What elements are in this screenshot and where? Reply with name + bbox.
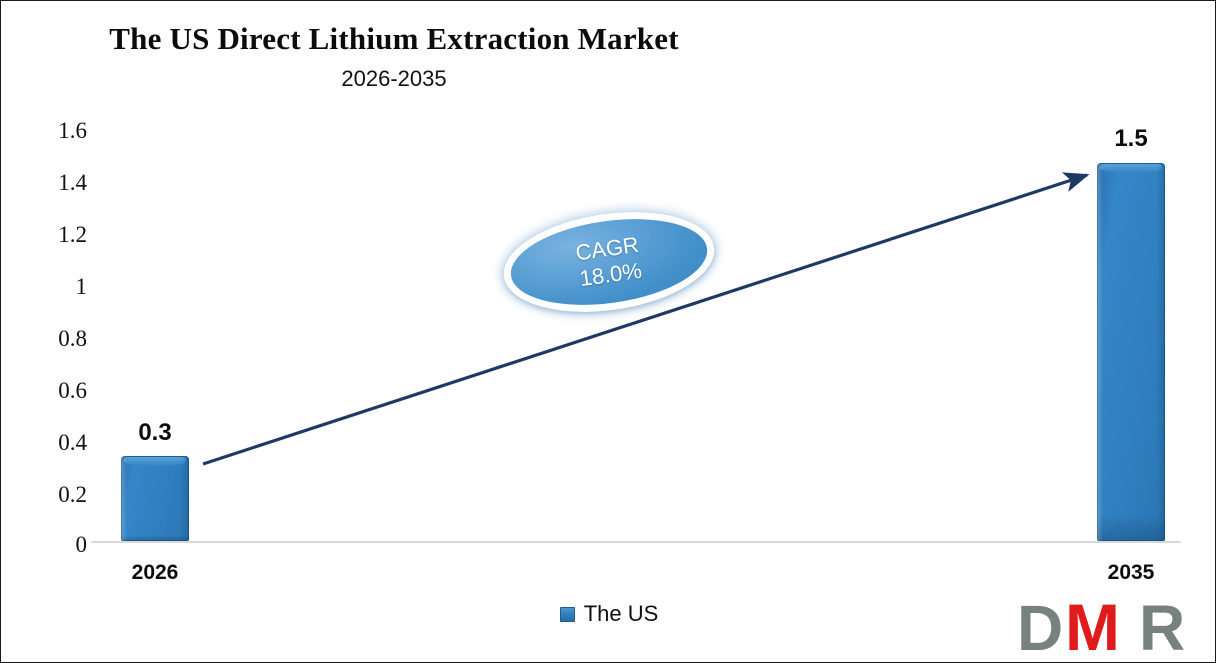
dmr-logo-letter-d: D xyxy=(1017,592,1063,660)
x-axis-line xyxy=(91,541,1181,543)
x-axis-label-2035: 2035 xyxy=(1081,561,1181,585)
bar-2026[interactable] xyxy=(121,456,189,541)
chart-container: The US Direct Lithium Extraction Market … xyxy=(0,0,1216,663)
bar-value-2026: 0.3 xyxy=(107,419,203,447)
dmr-logo: D R M xyxy=(1009,590,1209,660)
y-axis-tick-0_8: 0.8 xyxy=(27,327,87,350)
y-axis-tick-1: 1 xyxy=(27,275,87,298)
bar-value-2035: 1.5 xyxy=(1083,125,1179,153)
legend-swatch-the-us xyxy=(560,607,575,622)
dmr-logo-letter-m: M xyxy=(1065,590,1120,660)
bar-2035[interactable] xyxy=(1097,163,1165,541)
legend-label-the-us: The US xyxy=(584,601,659,627)
cagr-callout: CAGR 18.0% xyxy=(497,200,720,325)
y-axis-tick-1_2: 1.2 xyxy=(27,223,87,246)
chart-title: The US Direct Lithium Extraction Market xyxy=(1,21,787,57)
chart-subtitle: 2026-2035 xyxy=(1,66,787,92)
cagr-text: CAGR 18.0% xyxy=(497,200,720,325)
y-axis-tick-1_6: 1.6 xyxy=(27,119,87,142)
y-axis-tick-0_6: 0.6 xyxy=(27,379,87,402)
y-axis-tick-0_2: 0.2 xyxy=(27,483,87,506)
y-axis-tick-0_4: 0.4 xyxy=(27,431,87,454)
dmr-logo-letter-r: R xyxy=(1139,592,1185,660)
y-axis-tick-1_4: 1.4 xyxy=(27,171,87,194)
x-axis-label-2026: 2026 xyxy=(105,561,205,585)
y-axis-tick-0: 0 xyxy=(27,533,87,556)
y-axis-tick-labels: 1.6 1.4 1.2 1 0.8 0.6 0.4 0.2 0 xyxy=(21,1,87,663)
